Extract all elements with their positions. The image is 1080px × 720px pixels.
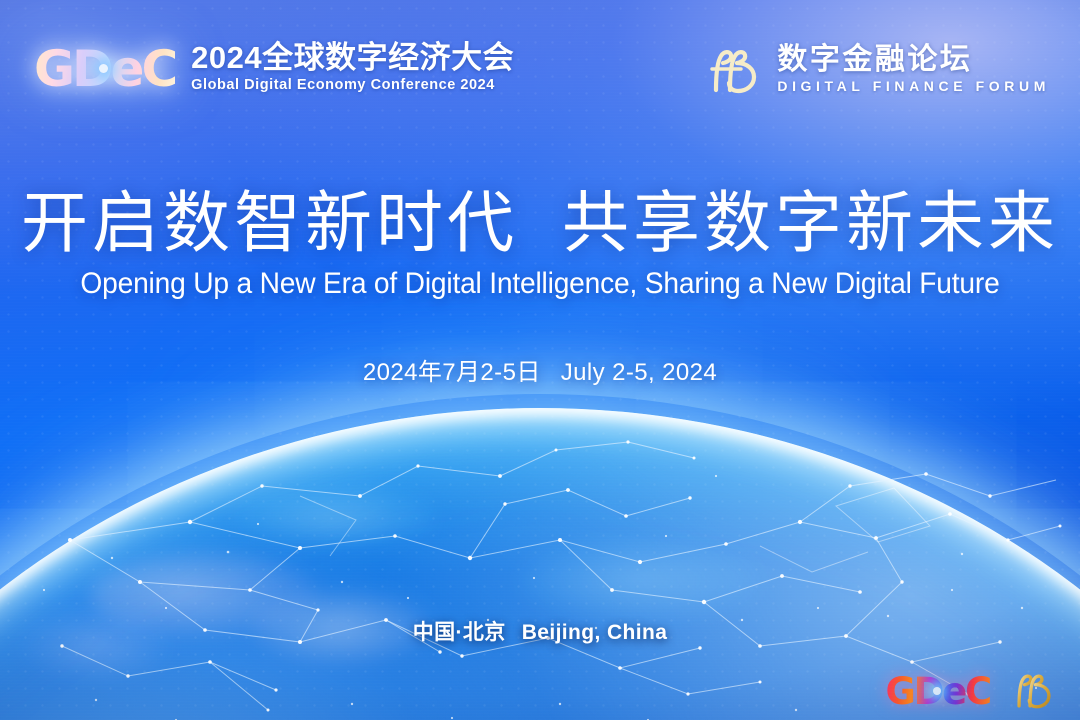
footer-logo-row: GDeC — [885, 670, 1056, 712]
ff-monogram-gold-icon — [1012, 670, 1056, 712]
forum-title-en: DIGITAL FINANCE FORUM — [777, 76, 1050, 97]
digital-finance-forum-lockup: 数字金融论坛 DIGITAL FINANCE FORUM — [707, 44, 1050, 97]
location-cn: 中国·北京 — [413, 621, 506, 644]
location-en: Beijing, China — [522, 621, 668, 644]
forum-title-cn: 数字金融论坛 — [777, 44, 1050, 76]
conference-backdrop: GDeC 2024全球数字经济大会 Global Digital Economy… — [0, 0, 1080, 720]
gdec-monogram-color-icon: GDeC — [885, 673, 990, 710]
hero-headline-en: Opening Up a New Era of Digital Intellig… — [24, 267, 1055, 302]
event-location: 中国·北京Beijing, China — [0, 616, 1080, 646]
gdec-logo-text: 2024全球数字经济大会 Global Digital Economy Conf… — [191, 42, 514, 96]
conference-title-en: Global Digital Economy Conference 2024 — [191, 75, 514, 97]
headline-cn-part2: 共享数字新未来 — [562, 184, 1059, 262]
conference-title-cn: 2024全球数字经济大会 — [191, 42, 514, 75]
hero-block: 开启数智新时代共享数字新未来 Opening Up a New Era of D… — [0, 186, 1080, 302]
headline-cn-part1: 开启数智新时代 — [21, 184, 518, 262]
event-date-cn: 2024年7月2-5日 — [363, 359, 541, 386]
ff-monogram-icon — [707, 45, 763, 97]
gdec-monogram-icon: GDeC — [34, 44, 175, 94]
gdec-logo-lockup: GDeC 2024全球数字经济大会 Global Digital Economy… — [34, 42, 514, 96]
event-date-en: July 2-5, 2024 — [561, 359, 717, 386]
dff-logo-text: 数字金融论坛 DIGITAL FINANCE FORUM — [777, 44, 1050, 97]
hero-headline-cn: 开启数智新时代共享数字新未来 — [0, 186, 1080, 261]
event-date: 2024年7月2-5日July 2-5, 2024 — [0, 352, 1080, 387]
